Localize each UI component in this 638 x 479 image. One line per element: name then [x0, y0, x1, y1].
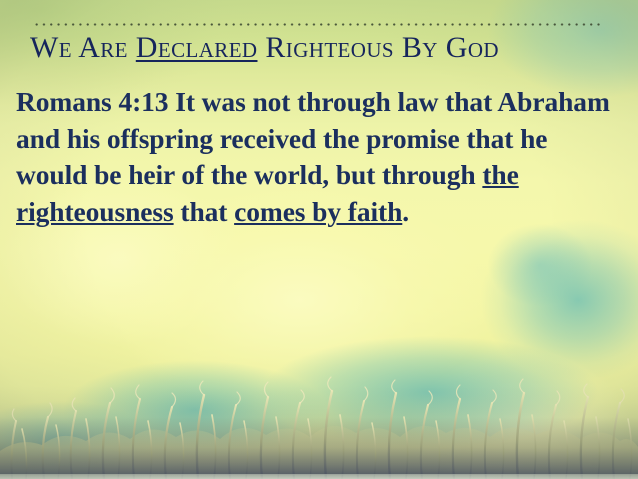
title-segment-2: Righteous By God	[258, 31, 499, 64]
scripture-body-text: Romans 4:13 It was not through law that …	[16, 84, 616, 230]
body-segment-2: that	[174, 196, 235, 227]
body-segment-3: comes by faith	[234, 196, 402, 227]
page-title: We Are Declared Righteous By God	[30, 31, 620, 65]
title-segment-1: Declared	[136, 31, 258, 64]
title-segment-0: We Are	[30, 31, 136, 64]
body-segment-0: Romans 4:13 It was not through law that …	[16, 86, 610, 190]
presentation-slide: We Are Declared Righteous By God Romans …	[0, 0, 638, 479]
slide-content: We Are Declared Righteous By God Romans …	[0, 0, 638, 479]
dotted-divider	[33, 23, 603, 26]
body-segment-4: .	[402, 196, 409, 227]
